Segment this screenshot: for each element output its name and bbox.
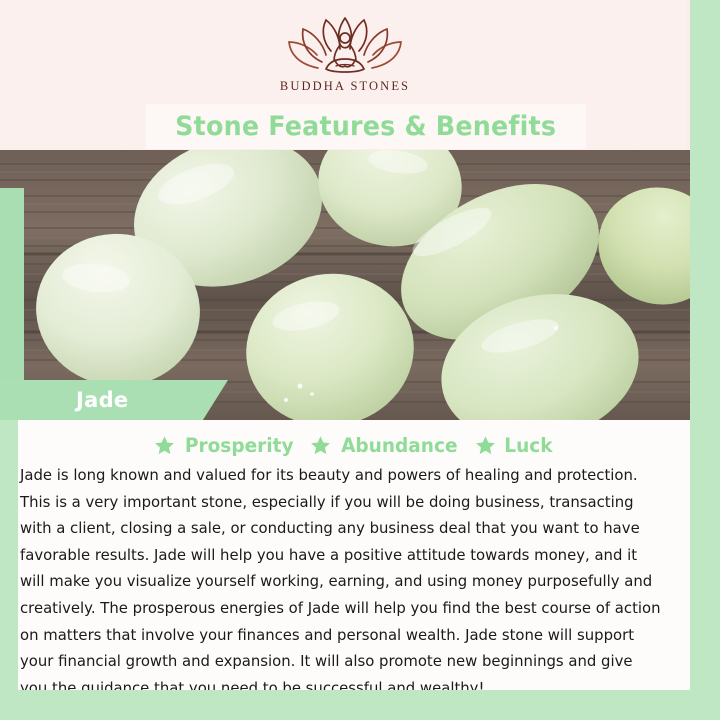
frame-edge-bottom <box>0 690 720 720</box>
benefit-label: Luck <box>504 434 552 457</box>
star-icon <box>475 435 496 456</box>
jade-stones-photo <box>0 150 690 420</box>
content-panel: Prosperity Abundance Luck Jade is long k… <box>18 420 690 692</box>
benefits-row: Prosperity Abundance Luck <box>18 434 690 457</box>
frame-edge-right <box>690 0 720 720</box>
brand-logo: BUDDHA STONES <box>245 14 445 94</box>
benefit-item-prosperity: Prosperity <box>154 434 296 457</box>
page-title: Stone Features & Benefits <box>176 111 557 142</box>
frame-edge-left <box>0 420 18 720</box>
lotus-meditation-icon <box>287 14 403 76</box>
star-icon <box>154 435 175 456</box>
infographic-card: BUDDHA STONES Stone Features & Benefits <box>0 0 720 720</box>
benefit-item-abundance: Abundance <box>310 434 461 457</box>
stone-name-banner: Jade <box>0 380 228 420</box>
benefit-label: Abundance <box>342 434 458 457</box>
brand-name: BUDDHA STONES <box>245 79 445 94</box>
stone-description: Jade is long known and valued for its be… <box>20 462 661 701</box>
star-icon <box>310 435 331 456</box>
title-banner: Stone Features & Benefits <box>146 104 586 149</box>
benefit-label: Prosperity <box>185 434 294 457</box>
brand-header: BUDDHA STONES <box>0 0 690 108</box>
benefit-item-luck: Luck <box>475 434 554 457</box>
photo-illustration <box>0 150 690 420</box>
stone-name-label: Jade <box>76 388 128 412</box>
